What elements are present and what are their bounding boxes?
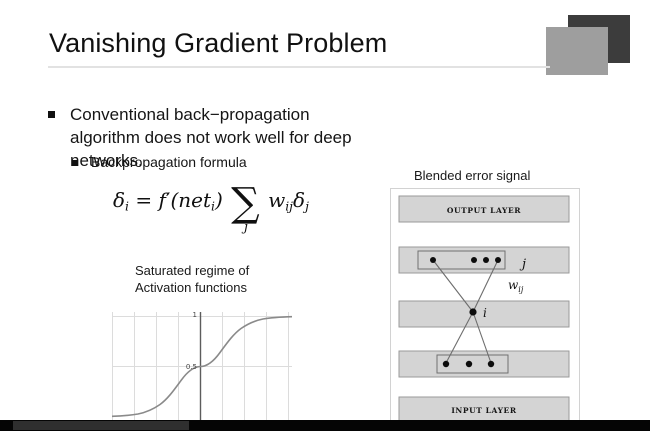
node-dot: [443, 361, 449, 367]
formula-delta-i: δi: [113, 188, 129, 212]
output-layer-label: OUTPUT LAYER: [447, 206, 521, 215]
bottom-gray-bar: [13, 421, 189, 430]
network-diagram: OUTPUT LAYER j i INPUT LAYER wij: [390, 188, 580, 428]
sigmoid-chart: 1 0.5: [112, 308, 292, 421]
node-i-label: i: [483, 306, 487, 320]
sigmoid-caption-line1: Saturated regime of: [135, 262, 249, 279]
node-dot: [466, 361, 472, 367]
node-dot: [483, 257, 489, 263]
formula-net-i: neti: [178, 188, 215, 212]
network-diagram-caption: Blended error signal: [414, 168, 530, 183]
chart-ytick-1: 1: [193, 311, 197, 319]
sigmoid-chart-svg: 1 0.5: [112, 308, 292, 421]
bullet-square-icon: [48, 111, 55, 118]
formula-sum-index: j: [244, 220, 248, 235]
weight-label-wij: wij: [508, 278, 524, 294]
node-i-dot: [469, 308, 476, 315]
bullet-square-icon: [72, 160, 78, 166]
backpropagation-formula: δi = f′(neti) ∑ wijδj j: [113, 188, 309, 213]
node-dot: [488, 361, 494, 367]
sigmoid-caption-line2: Activation functions: [135, 279, 249, 296]
chart-gridlines-horizontal: [112, 317, 292, 367]
page-title: Vanishing Gradient Problem: [49, 28, 387, 59]
formula-w-ij: wij: [268, 188, 293, 212]
formula-equals: =: [135, 188, 152, 212]
decorative-light-square: [546, 27, 608, 75]
title-underline-rule: [48, 66, 550, 68]
node-dot: [430, 257, 436, 263]
node-dot: [495, 257, 501, 263]
slide-canvas: Vanishing Gradient Problem Conventional …: [0, 0, 650, 431]
chart-ytick-05: 0.5: [186, 363, 197, 371]
bullet-level2-label: Backpropagation formula: [91, 154, 247, 170]
node-dot: [471, 257, 477, 263]
sigmoid-chart-caption: Saturated regime of Activation functions: [135, 262, 249, 296]
network-diagram-svg: OUTPUT LAYER j i INPUT LAYER wij: [391, 189, 577, 425]
bullet-level2: Backpropagation formula: [72, 154, 247, 170]
formula-close-paren: ): [215, 188, 223, 212]
formula-f-prime: f′: [159, 188, 171, 212]
input-layer-label: INPUT LAYER: [451, 406, 517, 415]
formula-delta-j: δj: [293, 188, 309, 212]
